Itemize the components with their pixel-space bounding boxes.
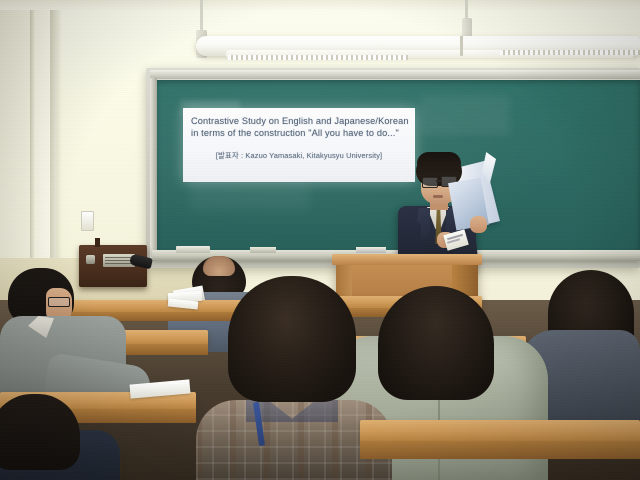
eyeglasses-icon bbox=[422, 177, 438, 188]
amplifier-handle bbox=[95, 238, 100, 247]
audience-head bbox=[378, 286, 494, 400]
classroom-desk-front bbox=[360, 441, 640, 459]
lectern-top bbox=[332, 254, 482, 265]
eyeglasses-icon bbox=[48, 297, 70, 307]
ceiling bbox=[0, 0, 640, 10]
chalk-smudge bbox=[190, 180, 310, 210]
classroom-desk bbox=[360, 420, 640, 442]
light-suspension-rod bbox=[465, 0, 468, 20]
wall-corner-shadow bbox=[50, 0, 62, 300]
light-switch bbox=[81, 211, 94, 231]
slide-presenter-credit: [발표자 : Kazuo Yamasaki, Kitakyusyu Univer… bbox=[191, 150, 407, 162]
blackboard-top-rail bbox=[150, 70, 640, 79]
slide-title-line-1: Contrastive Study on English and Japanes… bbox=[191, 115, 407, 127]
light-grill bbox=[228, 55, 408, 60]
presenter-mouth bbox=[433, 195, 443, 198]
amplifier-vent bbox=[105, 257, 132, 264]
light-suspension-rod bbox=[200, 0, 203, 34]
projected-slide: Contrastive Study on English and Japanes… bbox=[183, 108, 415, 182]
left-wall bbox=[0, 0, 56, 300]
light-fixture-seam bbox=[460, 36, 463, 56]
chalkboard-eraser bbox=[250, 247, 276, 253]
blackboard-left-edge bbox=[150, 78, 157, 258]
slide-title-line-2: in terms of the construction "All you ha… bbox=[191, 127, 407, 139]
chalkboard-eraser bbox=[356, 247, 386, 253]
presenter-right-hand bbox=[470, 216, 487, 233]
chalk-smudge bbox=[420, 95, 510, 135]
wall-edge-shadow bbox=[30, 0, 35, 290]
presenter-hair-fringe bbox=[417, 152, 461, 168]
chalkboard-eraser bbox=[176, 246, 210, 253]
light-grill bbox=[500, 50, 640, 55]
amplifier-latch bbox=[86, 255, 95, 264]
lecture-room-photo: Contrastive Study on English and Japanes… bbox=[0, 0, 640, 480]
audience-head bbox=[228, 276, 356, 402]
eyeglasses-bridge bbox=[436, 180, 441, 182]
audience-scalp bbox=[203, 256, 235, 276]
